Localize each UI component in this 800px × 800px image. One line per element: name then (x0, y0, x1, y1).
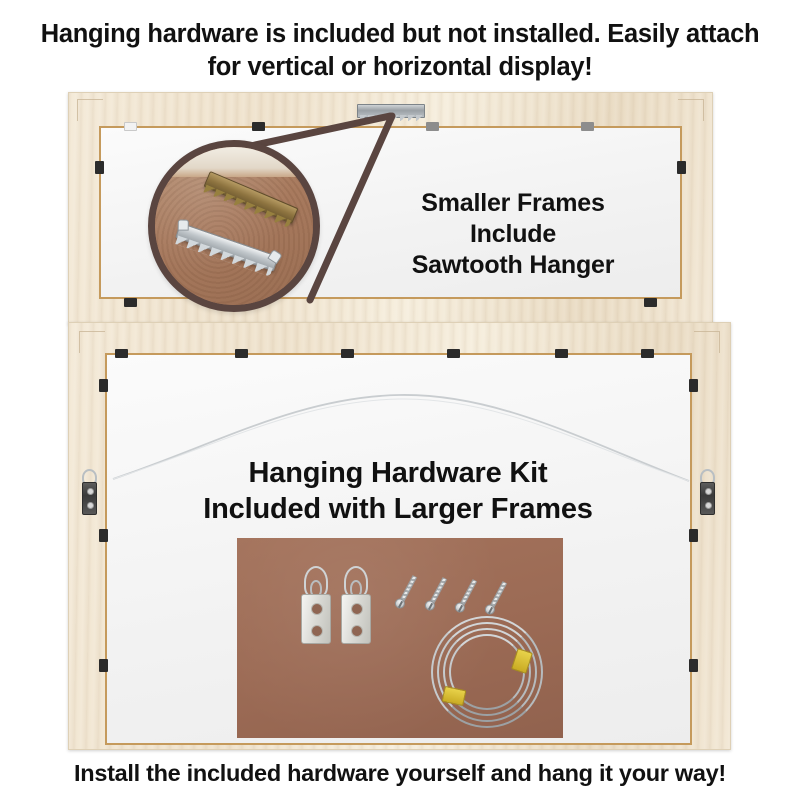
sawtooth-teeth (360, 115, 422, 121)
screw-hole (351, 603, 363, 615)
callout-line-2: Included with Larger Frames (88, 491, 708, 527)
retaining-clip (581, 122, 594, 131)
retaining-clip (447, 349, 460, 358)
frame-joint-mark (694, 331, 720, 353)
kit-d-ring-1 (301, 566, 331, 644)
hanging-wire-coil (431, 616, 543, 728)
frame-joint-mark (79, 331, 105, 353)
retaining-clip (252, 122, 265, 131)
frame-joint-mark (678, 99, 704, 121)
screw-icon-4 (483, 580, 509, 616)
hardware-kit-photo (237, 538, 563, 738)
callout-line-1: Hanging Hardware Kit (88, 455, 708, 491)
top-caption: Hanging hardware is included but not ins… (0, 18, 800, 84)
retaining-clip (677, 161, 686, 174)
callout-line-1: Smaller Frames (348, 188, 678, 219)
d-ring-plate (341, 594, 371, 644)
product-infographic: Hanging hardware is included but not ins… (0, 0, 800, 800)
retaining-clip (124, 122, 137, 131)
retaining-clip (689, 529, 698, 542)
bottom-caption: Install the included hardware yourself a… (0, 758, 800, 788)
retaining-clip (341, 349, 354, 358)
retaining-clip (115, 349, 128, 358)
callout-line-3: Sawtooth Hanger (348, 250, 678, 281)
small-frame-callout-text: Smaller Frames Include Sawtooth Hanger (348, 188, 678, 281)
retaining-clip (99, 659, 108, 672)
screw-hole (351, 625, 363, 637)
retaining-clip (99, 379, 108, 392)
screw-icon-3 (453, 578, 479, 614)
screw-hole (311, 603, 323, 615)
screw-hole (311, 625, 323, 637)
retaining-clip (555, 349, 568, 358)
kit-d-ring-2 (341, 566, 371, 644)
retaining-clip (689, 379, 698, 392)
retaining-clip (426, 122, 439, 131)
retaining-clip (641, 349, 654, 358)
sawtooth-hanger-icon (357, 104, 425, 118)
retaining-clip (124, 298, 137, 307)
retaining-clip (99, 529, 108, 542)
cork-top-edge (155, 147, 313, 177)
screw-icon-1 (393, 574, 419, 610)
frame-joint-mark (77, 99, 103, 121)
magnifier-callout-circle (148, 140, 320, 312)
retaining-clip (95, 161, 104, 174)
d-ring-plate (301, 594, 331, 644)
large-frame-callout-text: Hanging Hardware Kit Included with Large… (88, 455, 708, 527)
screw-icon-2 (423, 576, 449, 612)
retaining-clip (689, 659, 698, 672)
callout-line-2: Include (348, 219, 678, 250)
sawtooth-tab (178, 219, 189, 230)
retaining-clip (235, 349, 248, 358)
retaining-clip (644, 298, 657, 307)
